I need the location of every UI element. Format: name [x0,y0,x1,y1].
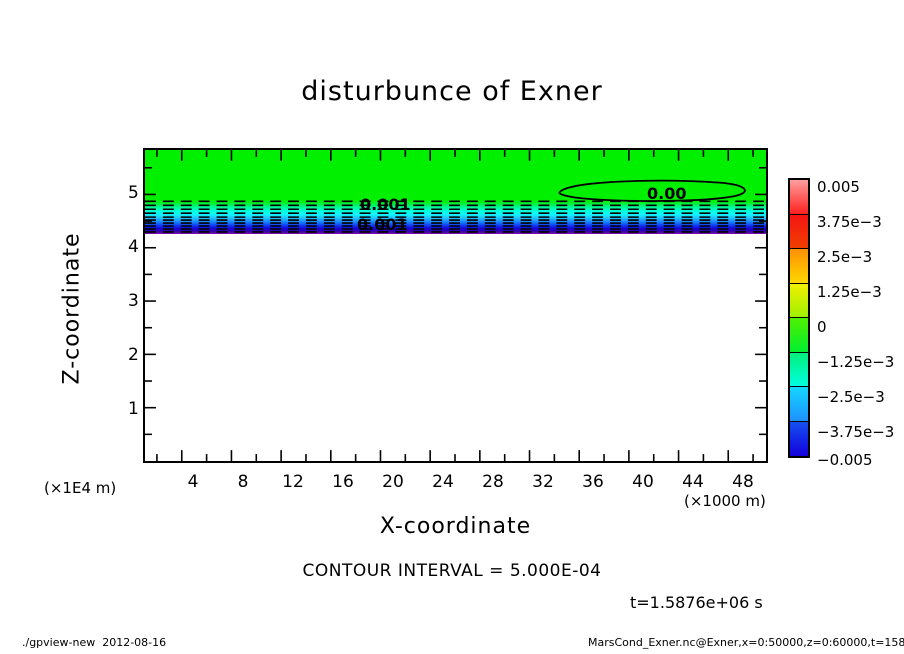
contour-label-lower: 0.001 [357,215,408,234]
y-axis-unit: (×1E4 m) [44,479,116,497]
xtick-label: 28 [482,472,504,492]
colorbar-label: 3.75e−3 [817,213,882,231]
xtick-label: 32 [532,472,554,492]
xtick-label: 20 [382,472,404,492]
ytick-label: 3 [128,291,139,311]
colorbar-segment [790,318,808,353]
colorbar-segment [790,353,808,388]
ytick-label: 2 [128,345,139,365]
colorbar-segment [790,387,808,422]
xtick-label: 12 [282,472,304,492]
plot-area: 0.00 0.001 0.001 [143,148,768,463]
contour-interval-note: CONTOUR INTERVAL = 5.000E-04 [0,561,904,581]
colorbar-segment [790,180,808,215]
colorbar-segment [790,249,808,284]
xtick-label: 16 [332,472,354,492]
xtick-label: 44 [682,472,704,492]
xtick-label: 40 [632,472,654,492]
colorbar-segment [790,215,808,250]
colorbar-label: 1.25e−3 [817,283,882,301]
colorbar-label: −1.25e−3 [817,353,894,371]
xtick-label: 24 [432,472,454,492]
xtick-label: 48 [732,472,754,492]
colorbar-label: 0 [817,318,827,336]
xtick-label: 8 [238,472,249,492]
footer-left-note: ./gpview-new 2012-08-16 [22,636,166,649]
colorbar-label: 2.5e−3 [817,248,872,266]
figure-canvas: disturbunce of Exner [0,0,904,654]
colorbar-label: −2.5e−3 [817,388,885,406]
xtick-label: 36 [582,472,604,492]
xtick-label: 4 [188,472,199,492]
x-axis-title: X-coordinate [143,514,768,539]
contour-label-upper: 0.001 [360,195,411,214]
footer-right-note: MarsCond_Exner.nc@Exner,x=0:50000,z=0:60… [588,636,904,649]
page-title: disturbunce of Exner [0,76,904,107]
ytick-label: 1 [128,399,139,419]
time-annotation: t=1.5876e+06 s [630,593,763,612]
colorbar-label: 0.005 [817,178,860,196]
colorbar-label: −3.75e−3 [817,423,894,441]
colorbar [788,178,810,458]
x-axis-unit: (×1000 m) [684,492,766,510]
y-axis-title: Z-coordinate [60,179,85,439]
colorbar-segment [790,422,808,457]
contour-label-zero: 0.00 [647,184,686,203]
ytick-label: 5 [128,183,139,203]
colorbar-segment [790,284,808,319]
ytick-label: 4 [128,237,139,257]
colorbar-label: −0.005 [817,451,873,469]
